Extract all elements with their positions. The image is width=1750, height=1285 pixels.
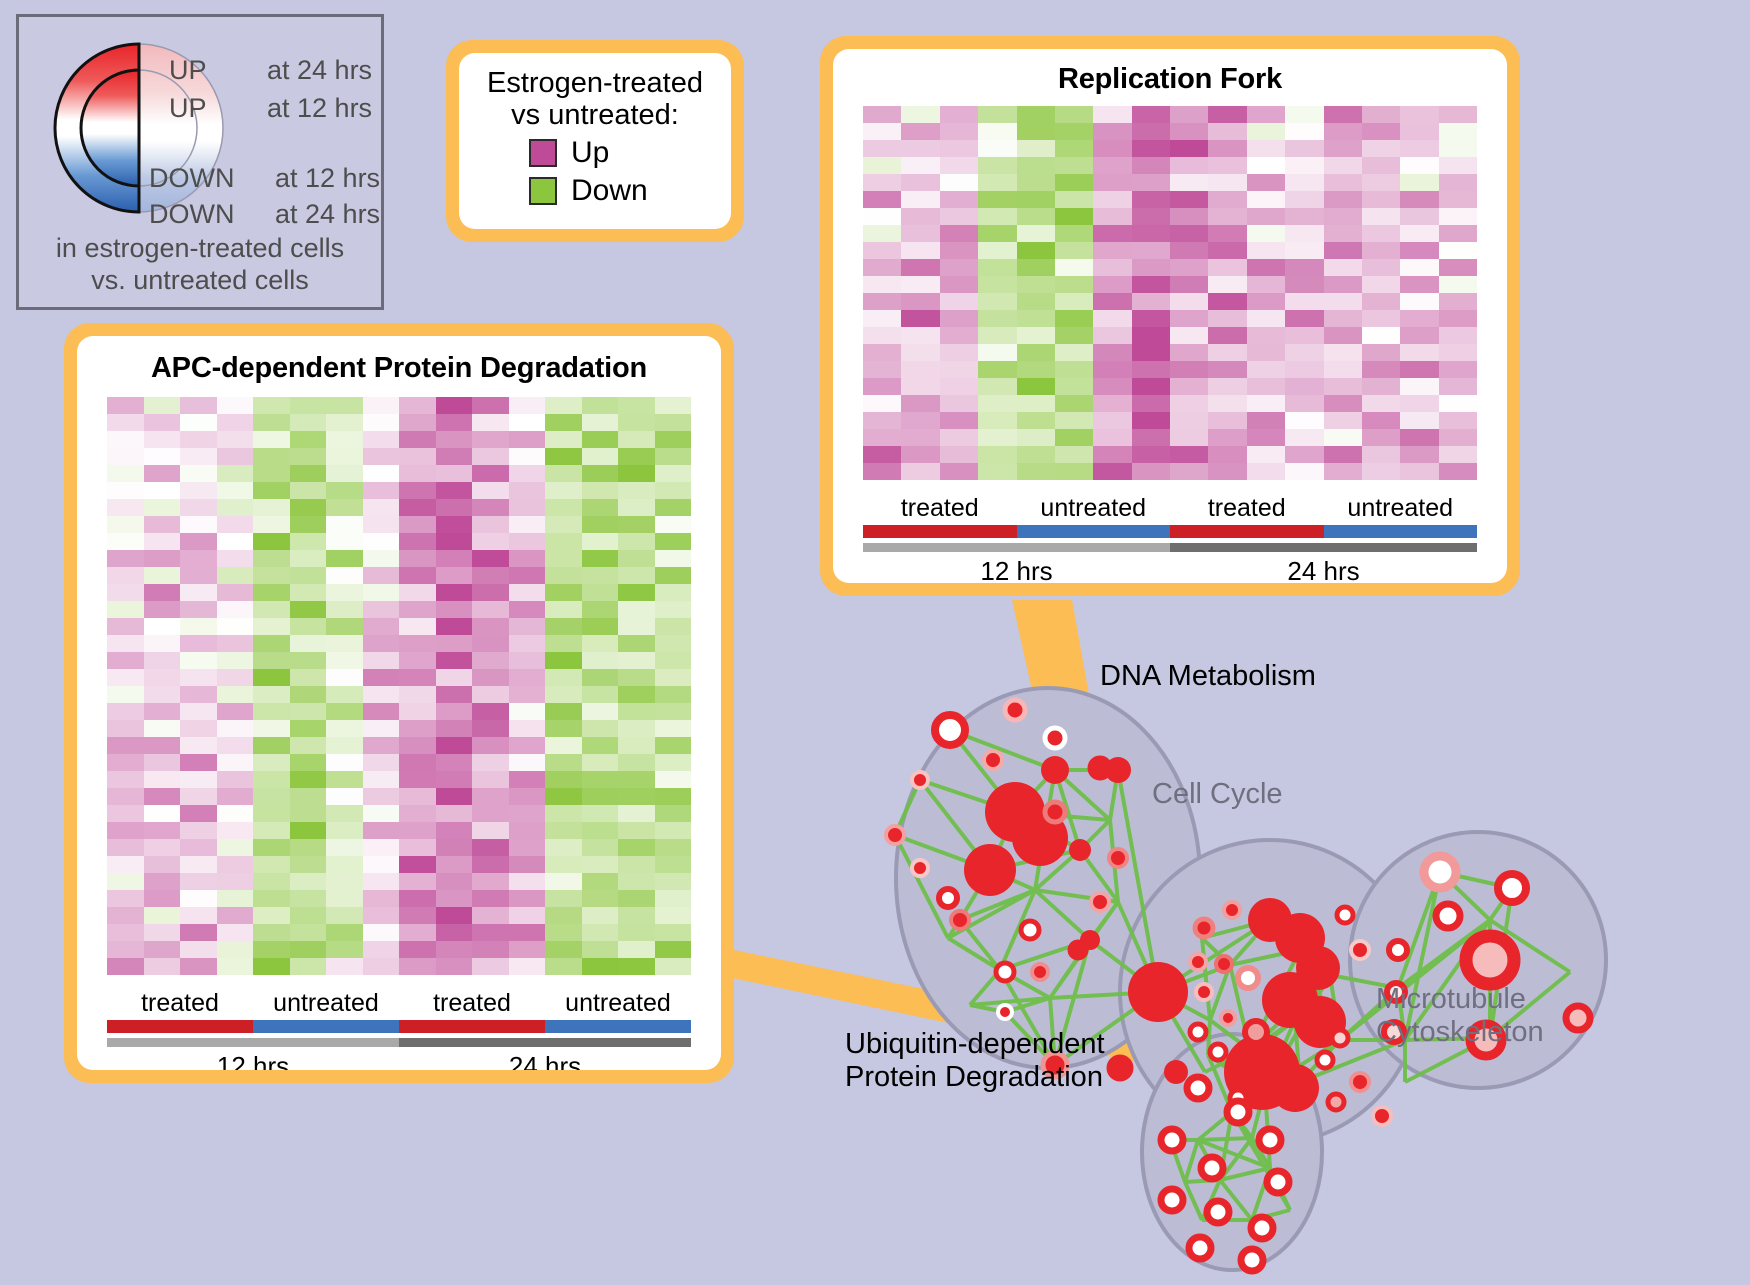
heatmap-cell <box>1093 446 1131 463</box>
heatmap-cell <box>509 907 546 924</box>
heatmap-cell <box>901 276 939 293</box>
heatmap-cell <box>1208 344 1246 361</box>
heatmap-cell <box>1208 259 1246 276</box>
heatmap-cell <box>1093 123 1131 140</box>
heatmap-cell <box>1170 174 1208 191</box>
heatmap-cell <box>363 754 400 771</box>
heatmap-cell <box>217 941 254 958</box>
heatmap-cell <box>582 754 619 771</box>
heatmap-cell <box>363 873 400 890</box>
heatmap-cell <box>1285 123 1323 140</box>
heatmap-cell <box>1247 208 1285 225</box>
heatmap-cell <box>326 414 363 431</box>
heatmap-cell <box>180 839 217 856</box>
heatmap-cell <box>1017 191 1055 208</box>
heatmap-cell <box>363 448 400 465</box>
heatmap-cell <box>618 482 655 499</box>
heatmap-cell <box>509 618 546 635</box>
heatmap-cell <box>978 344 1016 361</box>
heatmap-cell <box>545 465 582 482</box>
heatmap-cell <box>217 873 254 890</box>
heatmap-cell <box>940 429 978 446</box>
heatmap-cell <box>144 550 181 567</box>
heatmap-cell <box>940 191 978 208</box>
heatmap-cell <box>290 856 327 873</box>
heatmap-cell <box>217 482 254 499</box>
heatmap-cell <box>1400 412 1438 429</box>
heatmap-cell <box>1439 412 1477 429</box>
heatmap-cell <box>940 276 978 293</box>
heatmap-cell <box>144 737 181 754</box>
heatmap-cell <box>144 601 181 618</box>
heatmap-cell <box>180 890 217 907</box>
heatmap-cell <box>582 669 619 686</box>
heatmap-cell <box>509 771 546 788</box>
heatmap-cell <box>144 907 181 924</box>
heatmap-cell <box>217 397 254 414</box>
heatmap-cell <box>1400 446 1438 463</box>
heatmap-cell <box>1055 446 1093 463</box>
heatmap-cell <box>144 839 181 856</box>
sample-label: treated <box>863 494 1017 523</box>
heatmap-cell <box>290 737 327 754</box>
heatmap-cell <box>1132 242 1170 259</box>
heatmap-cell <box>1324 463 1362 480</box>
heatmap-cell <box>436 516 473 533</box>
heatmap-cell <box>399 550 436 567</box>
heatmap-cell <box>326 856 363 873</box>
heatmap-cell <box>1055 327 1093 344</box>
heatmap-cell <box>399 754 436 771</box>
heatmap-cell <box>399 890 436 907</box>
heatmap-cell <box>107 720 144 737</box>
heatmap-cell <box>1170 412 1208 429</box>
heatmap-cell <box>436 924 473 941</box>
heatmap-cell <box>399 720 436 737</box>
heatmap-cell <box>901 225 939 242</box>
heatmap-cell <box>1400 344 1438 361</box>
heatmap-cell <box>107 941 144 958</box>
heatmap-cell <box>1093 208 1131 225</box>
heatmap-cell <box>144 414 181 431</box>
heatmap-cell <box>509 397 546 414</box>
heatmap-cell <box>1017 242 1055 259</box>
heatmap-cell <box>107 516 144 533</box>
heatmap-cell <box>1017 259 1055 276</box>
heatmap-cell <box>978 140 1016 157</box>
heatmap-cell <box>1324 327 1362 344</box>
heatmap-cell <box>1208 242 1246 259</box>
heatmap-cell <box>1132 293 1170 310</box>
heatmap-cell <box>180 771 217 788</box>
heatmap-cell <box>1324 378 1362 395</box>
heatmap-cell <box>509 516 546 533</box>
heatmap-cell <box>1439 378 1477 395</box>
heatmap-cell <box>326 533 363 550</box>
condition-swatch <box>1017 525 1171 538</box>
heatmap-cell <box>509 499 546 516</box>
heatmap-cell <box>618 652 655 669</box>
heatmap-cell <box>863 395 901 412</box>
heatmap-cell <box>1208 157 1246 174</box>
heatmap-cell <box>509 822 546 839</box>
heatmap-cell <box>217 958 254 975</box>
heatmap-cell <box>472 550 509 567</box>
heatmap-cell <box>253 499 290 516</box>
heatmap-cell <box>180 805 217 822</box>
heatmap-cell <box>472 465 509 482</box>
heatmap-cell <box>1017 327 1055 344</box>
heatmap-cell <box>217 720 254 737</box>
heatmap-cell <box>399 465 436 482</box>
heatmap-cell <box>1055 429 1093 446</box>
heatmap-cell <box>582 686 619 703</box>
heatmap-cell <box>1400 123 1438 140</box>
heatmap-cell <box>545 856 582 873</box>
heatmap-cell <box>180 941 217 958</box>
heatmap-cell <box>978 174 1016 191</box>
heatmap-cell <box>363 890 400 907</box>
heatmap-cell <box>1132 446 1170 463</box>
heatmap-cell <box>582 618 619 635</box>
heatmap-cell <box>618 601 655 618</box>
heatmap-cell <box>1132 191 1170 208</box>
heatmap-cell <box>290 584 327 601</box>
heatmap-cell <box>363 618 400 635</box>
heatmap-cell <box>655 635 692 652</box>
heatmap-cell <box>582 873 619 890</box>
heatmap-cell <box>509 635 546 652</box>
heatmap-cell <box>863 191 901 208</box>
heatmap-cell <box>107 652 144 669</box>
heatmap-cell <box>655 414 692 431</box>
heatmap-cell <box>1208 208 1246 225</box>
heatmap-cell <box>472 516 509 533</box>
heatmap-cell <box>655 533 692 550</box>
heatmap-cell <box>618 839 655 856</box>
heatmap-cell <box>1170 327 1208 344</box>
heatmap-cell <box>1362 429 1400 446</box>
heatmap-cell <box>940 259 978 276</box>
heatmap-cell <box>545 635 582 652</box>
heatmap-cell <box>472 635 509 652</box>
heatmap-cell <box>1439 123 1477 140</box>
heatmap-cell <box>399 601 436 618</box>
heatmap-cell <box>509 448 546 465</box>
heatmap-cell <box>290 720 327 737</box>
heatmap-cell <box>436 873 473 890</box>
heatmap-cell <box>1017 106 1055 123</box>
heatmap-cell <box>978 327 1016 344</box>
heatmap-cell <box>1400 378 1438 395</box>
heatmap-cell <box>144 448 181 465</box>
heatmap-cell <box>1439 361 1477 378</box>
heatmap-cell <box>217 652 254 669</box>
heatmap-cell <box>1093 140 1131 157</box>
heatmap-cell <box>1132 225 1170 242</box>
heatmap-cell <box>1208 395 1246 412</box>
heatmap-cell <box>1055 412 1093 429</box>
heatmap-cell <box>399 635 436 652</box>
heatmap-cell <box>1400 106 1438 123</box>
heatmap-cell <box>545 958 582 975</box>
heatmap-cell <box>290 567 327 584</box>
heatmap-cell <box>582 907 619 924</box>
heatmap-cell <box>618 856 655 873</box>
heatmap-cell <box>1285 310 1323 327</box>
heatmap-cell <box>180 652 217 669</box>
heatmap-cell <box>655 516 692 533</box>
heatmap-cell <box>1400 174 1438 191</box>
heatmap-cell <box>1285 157 1323 174</box>
heatmap-cell <box>253 907 290 924</box>
heatmap-cell <box>472 754 509 771</box>
heatmap-cell <box>1247 412 1285 429</box>
heatmap-cell <box>290 941 327 958</box>
heatmap-cell <box>1093 378 1131 395</box>
heatmap-cell <box>1285 174 1323 191</box>
sample-label: untreated <box>1017 494 1171 523</box>
apc-degradation-title: APC-dependent Protein Degradation <box>107 352 691 385</box>
heatmap-cell <box>1247 106 1285 123</box>
legend-item-up: Up <box>529 136 719 170</box>
heatmap-cell <box>253 805 290 822</box>
heatmap-cell <box>618 958 655 975</box>
heatmap-cell <box>180 516 217 533</box>
heatmap-cell <box>1247 157 1285 174</box>
heatmap-cell <box>363 771 400 788</box>
heatmap-cell <box>618 584 655 601</box>
heatmap-cell <box>399 414 436 431</box>
heatmap-cell <box>582 822 619 839</box>
heatmap-cell <box>1132 378 1170 395</box>
heatmap-cell <box>1362 327 1400 344</box>
heatmap-cell <box>978 106 1016 123</box>
heatmap-cell <box>217 822 254 839</box>
heatmap-cell <box>509 805 546 822</box>
heatmap-cell <box>472 482 509 499</box>
heatmap-cell <box>436 482 473 499</box>
heatmap-cell <box>1055 106 1093 123</box>
heatmap-cell <box>1400 463 1438 480</box>
heatmap-cell <box>253 924 290 941</box>
heatmap-cell <box>1362 225 1400 242</box>
heatmap-cell <box>217 465 254 482</box>
legend-caption-line1: in estrogen-treated cells <box>19 233 381 265</box>
heatmap-cell <box>582 890 619 907</box>
heatmap-cell <box>545 890 582 907</box>
heatmap-cell <box>1132 327 1170 344</box>
heatmap-cell <box>399 907 436 924</box>
heatmap-cell <box>290 873 327 890</box>
heatmap-cell <box>655 754 692 771</box>
heatmap-cell <box>901 395 939 412</box>
heatmap-cell <box>1247 191 1285 208</box>
heatmap-cell <box>509 550 546 567</box>
heatmap-cell <box>509 839 546 856</box>
heatmap-cell <box>107 907 144 924</box>
condition-swatch <box>399 1020 545 1033</box>
heatmap-cell <box>363 669 400 686</box>
heatmap-cell <box>180 550 217 567</box>
heatmap-cell <box>978 395 1016 412</box>
heatmap-cell <box>940 361 978 378</box>
heatmap-cell <box>326 686 363 703</box>
heatmap-cell <box>1093 293 1131 310</box>
heatmap-cell <box>582 703 619 720</box>
heatmap-cell <box>180 584 217 601</box>
heatmap-cell <box>1093 106 1131 123</box>
heatmap-cell <box>290 414 327 431</box>
heatmap-cell <box>655 805 692 822</box>
heatmap-cell <box>180 465 217 482</box>
heatmap-cell <box>472 907 509 924</box>
heatmap-cell <box>1285 463 1323 480</box>
heatmap-cell <box>509 941 546 958</box>
heatmap-cell <box>940 395 978 412</box>
heatmap-cell <box>863 140 901 157</box>
heatmap-cell <box>655 788 692 805</box>
heatmap-cell <box>436 465 473 482</box>
heatmap-cell <box>618 669 655 686</box>
heatmap-cell <box>1362 446 1400 463</box>
heatmap-cell <box>144 618 181 635</box>
heatmap-cell <box>582 516 619 533</box>
heatmap-cell <box>1170 276 1208 293</box>
heatmap-cell <box>863 463 901 480</box>
heatmap-cell <box>618 414 655 431</box>
time-label: 24 hrs <box>399 1051 691 1070</box>
heatmap-cell <box>326 482 363 499</box>
heatmap-cell <box>363 584 400 601</box>
heatmap-cell <box>1362 395 1400 412</box>
heatmap-cell <box>217 584 254 601</box>
heatmap-cell <box>290 805 327 822</box>
heatmap-cell <box>363 635 400 652</box>
heatmap-cell <box>107 839 144 856</box>
heatmap-cell <box>655 720 692 737</box>
heatmap-cell <box>1017 123 1055 140</box>
heatmap-cell <box>901 412 939 429</box>
heatmap-cell <box>399 839 436 856</box>
heatmap-cell <box>1362 174 1400 191</box>
heatmap-cell <box>1017 276 1055 293</box>
heatmap-cell <box>144 533 181 550</box>
heatmap-cell <box>1285 293 1323 310</box>
heatmap-cell <box>436 941 473 958</box>
heatmap-cell <box>290 907 327 924</box>
heatmap-cell <box>363 601 400 618</box>
heatmap-cell <box>655 856 692 873</box>
heatmap-cell <box>144 584 181 601</box>
heatmap-cell <box>655 703 692 720</box>
heatmap-cell <box>1017 293 1055 310</box>
heatmap-cell <box>1400 395 1438 412</box>
heatmap-cell <box>217 771 254 788</box>
heatmap-cell <box>253 771 290 788</box>
time-swatch <box>1170 543 1477 552</box>
heatmap-cell <box>107 601 144 618</box>
heatmap-cell <box>144 567 181 584</box>
heatmap-cell <box>1055 242 1093 259</box>
estrogen-legend-box: Estrogen-treated vs untreated: Up Down <box>446 40 744 242</box>
heatmap-cell <box>1170 293 1208 310</box>
heatmap-cell <box>940 225 978 242</box>
heatmap-cell <box>1017 412 1055 429</box>
heatmap-cell <box>1170 310 1208 327</box>
heatmap-cell <box>290 788 327 805</box>
heatmap-cell <box>217 907 254 924</box>
heatmap-cell <box>290 499 327 516</box>
heatmap-cell <box>1362 463 1400 480</box>
heatmap-cell <box>1170 378 1208 395</box>
heatmap-cell <box>545 550 582 567</box>
heatmap-cell <box>655 822 692 839</box>
heatmap-cell <box>509 533 546 550</box>
heatmap-cell <box>363 414 400 431</box>
heatmap-cell <box>144 788 181 805</box>
heatmap-cell <box>472 890 509 907</box>
up-color-swatch <box>529 139 557 167</box>
heatmap-cell <box>1017 361 1055 378</box>
heatmap-cell <box>472 788 509 805</box>
heatmap-cell <box>1017 429 1055 446</box>
heatmap-cell <box>582 601 619 618</box>
heatmap-cell <box>545 822 582 839</box>
heatmap-cell <box>1400 310 1438 327</box>
time-swatch <box>107 1038 399 1047</box>
heatmap-cell <box>1170 208 1208 225</box>
heatmap-cell <box>509 669 546 686</box>
heatmap-cell <box>618 754 655 771</box>
heatmap-cell <box>1285 327 1323 344</box>
heatmap-cell <box>1093 242 1131 259</box>
heatmap-cell <box>180 754 217 771</box>
heatmap-cell <box>217 618 254 635</box>
heatmap-cell <box>1132 157 1170 174</box>
heatmap-cell <box>326 703 363 720</box>
heatmap-cell <box>144 754 181 771</box>
heatmap-cell <box>1208 429 1246 446</box>
heatmap-cell <box>1362 140 1400 157</box>
heatmap-cell <box>655 584 692 601</box>
legend-row-1-value: UP <box>169 93 207 124</box>
heatmap-cell <box>290 890 327 907</box>
expression-ring-key: UP at 24 hrs UP at 12 hrs DOWN at 12 hrs… <box>16 14 384 310</box>
heatmap-cell <box>326 737 363 754</box>
heatmap-cell <box>472 567 509 584</box>
heatmap-cell <box>107 737 144 754</box>
heatmap-cell <box>901 310 939 327</box>
heatmap-cell <box>1132 395 1170 412</box>
heatmap-cell <box>472 686 509 703</box>
heatmap-cell <box>509 686 546 703</box>
heatmap-cell <box>582 499 619 516</box>
heatmap-cell <box>436 635 473 652</box>
heatmap-cell <box>217 601 254 618</box>
heatmap-cell <box>582 431 619 448</box>
heatmap-cell <box>509 414 546 431</box>
heatmap-cell <box>1170 157 1208 174</box>
heatmap-cell <box>655 652 692 669</box>
heatmap-cell <box>863 344 901 361</box>
heatmap-cell <box>582 448 619 465</box>
heatmap-cell <box>217 414 254 431</box>
legend-row-3-time: at 24 hrs <box>275 199 380 230</box>
heatmap-cell <box>107 771 144 788</box>
heatmap-cell <box>326 465 363 482</box>
heatmap-cell <box>545 686 582 703</box>
